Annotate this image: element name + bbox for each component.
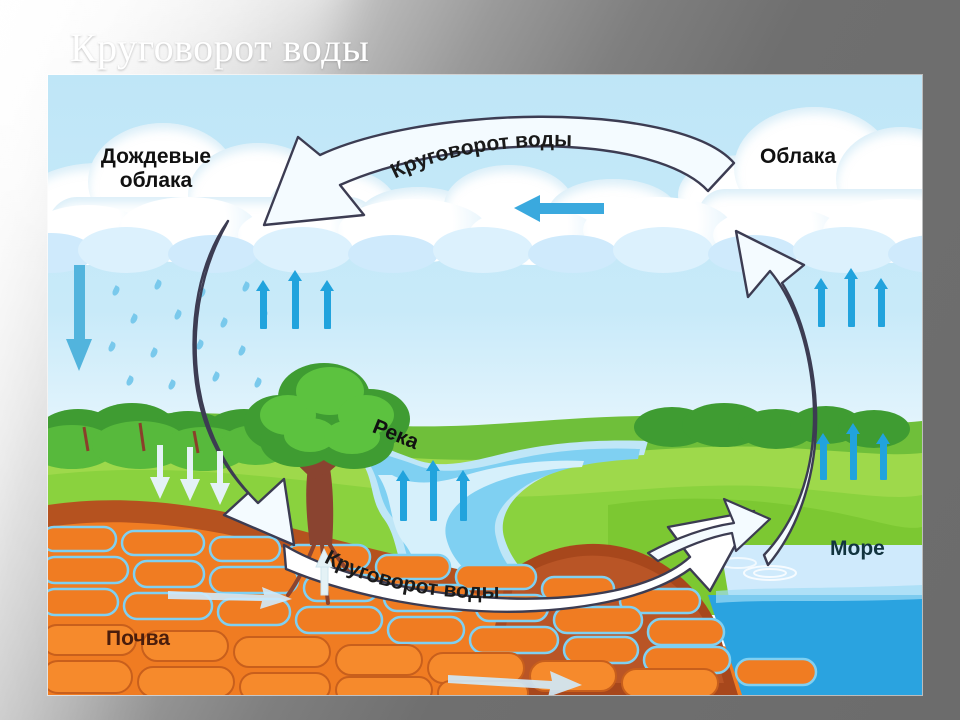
label-rain-clouds-line2: облака: [76, 169, 236, 193]
label-clouds: Облака: [760, 145, 836, 169]
page-title: Круговорот воды: [70, 24, 369, 71]
top-cycle-arrow-label: Круговорот воды: [378, 131, 698, 191]
label-sea: Море: [830, 537, 885, 561]
wind-arrow: [514, 195, 604, 222]
label-rain-clouds-line1: Дождевые: [76, 145, 236, 169]
bottom-cycle-arrow-label: Круговорот воды: [306, 545, 646, 615]
label-rain-clouds: Дождевые облака: [76, 145, 236, 193]
top-arrow-text: Круговорот воды: [387, 128, 572, 183]
precipitation-arrow: [194, 221, 294, 545]
bottom-arrow-text: Круговорот воды: [321, 546, 499, 603]
water-cycle-diagram: Круговорот воды Круговорот воды Дождевые…: [48, 75, 922, 695]
svg-text:Круговорот воды: Круговорот воды: [387, 128, 572, 183]
label-soil: Почва: [106, 627, 170, 651]
svg-text:Круговорот воды: Круговорот воды: [321, 546, 499, 603]
